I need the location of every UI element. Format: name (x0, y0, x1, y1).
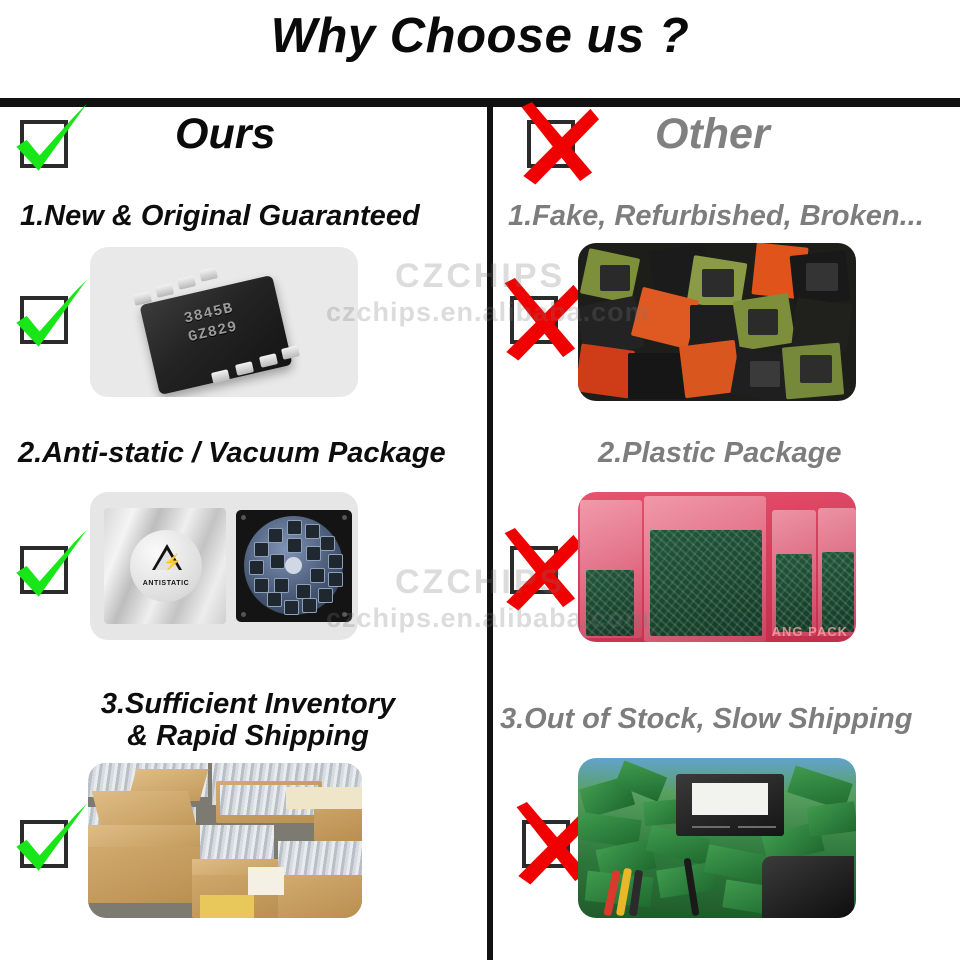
shipping-label (286, 787, 362, 809)
carton-flap (92, 791, 196, 825)
reel-hub (285, 557, 302, 574)
cross-icon-header-right (527, 120, 575, 168)
carton (278, 875, 362, 918)
row-3-left-heading: 3.Sufficient Inventory & Rapid Shipping (18, 688, 478, 753)
carton-tape (200, 895, 254, 918)
column-divider-rule (487, 104, 493, 960)
chip-pin (199, 267, 218, 282)
scrap-die (702, 269, 734, 297)
case-screw (342, 515, 347, 520)
cross-icon (496, 528, 582, 614)
chip-pin (177, 275, 196, 290)
header-divider-rule (0, 98, 960, 107)
chip-pin (281, 345, 300, 360)
check-icon (6, 802, 92, 888)
case-screw (241, 515, 246, 520)
check-icon-row-2 (20, 546, 68, 594)
black-pad (762, 856, 854, 918)
column-header-other: Other (655, 110, 770, 159)
scrap-die (600, 265, 630, 291)
carton (88, 841, 204, 903)
module-label (692, 783, 768, 815)
antistatic-label-text: ANTISTATIC (130, 580, 202, 587)
photo-cartons-of-packages (88, 763, 362, 918)
cross-icon (496, 278, 582, 364)
check-icon-row-1 (20, 296, 68, 344)
pcb-board (650, 530, 762, 636)
photo-green-pcb-scrap (578, 758, 856, 918)
component-reel (244, 516, 343, 615)
antistatic-label-disc: ⚡ ANTISTATIC (130, 530, 202, 602)
module-pin-row (738, 826, 776, 828)
check-icon (6, 528, 92, 614)
scrap-pcb (578, 343, 635, 398)
row-2-right-heading: 2.Plastic Package (598, 437, 958, 469)
photo-single-ic-chip: 3845BGZ829 (90, 247, 358, 397)
check-icon-header-left (20, 120, 68, 168)
page-title: Why Choose us ? (0, 8, 960, 64)
module-pin-row (692, 826, 730, 828)
pcb-scrap (806, 801, 856, 837)
black-module (676, 774, 784, 836)
column-header-ours: Ours (175, 110, 275, 159)
check-icon (6, 102, 92, 188)
lightning-bolt-icon: ⚡ (163, 555, 182, 570)
chip-pin (155, 283, 174, 298)
cross-icon-row-1 (510, 296, 558, 344)
scrap-die (800, 355, 832, 383)
row-1-left-heading: 1.New & Original Guaranteed (20, 200, 475, 232)
photo-antistatic-bag-and-reel: ⚡ ANTISTATIC (90, 492, 358, 640)
chip-pin (211, 369, 230, 384)
pcb-board (776, 554, 812, 632)
case-screw (241, 612, 246, 617)
pack-overlay-text: ANG PACK (772, 624, 848, 639)
cross-icon-row-3 (522, 820, 570, 868)
check-icon (6, 278, 92, 364)
scrap-die (750, 361, 780, 387)
antistatic-bag: ⚡ ANTISTATIC (104, 508, 226, 624)
pcb-board (586, 570, 634, 636)
row-2-left-heading: 2.Anti-static / Vacuum Package (18, 437, 483, 469)
why-choose-us-infographic: Why Choose us ? Ours Other 1.New & Origi… (0, 0, 960, 960)
row-3-right-heading: 3.Out of Stock, Slow Shipping (500, 703, 958, 735)
cross-icon-row-2 (510, 546, 558, 594)
cross-icon (513, 102, 599, 188)
photo-scrap-chip-pile (578, 243, 856, 401)
case-screw (342, 612, 347, 617)
row-1-right-heading: 1.Fake, Refurbished, Broken... (508, 200, 958, 232)
scrap-die (748, 309, 778, 335)
scrap-die (806, 263, 838, 291)
pcb-board (822, 552, 854, 632)
check-icon-row-3 (20, 820, 68, 868)
carton-flap (88, 825, 206, 847)
reel-case (236, 510, 352, 622)
scrap-chip (628, 353, 686, 399)
shipping-label (248, 867, 284, 895)
photo-pcb-in-pink-bags: ANG PACK (578, 492, 856, 642)
